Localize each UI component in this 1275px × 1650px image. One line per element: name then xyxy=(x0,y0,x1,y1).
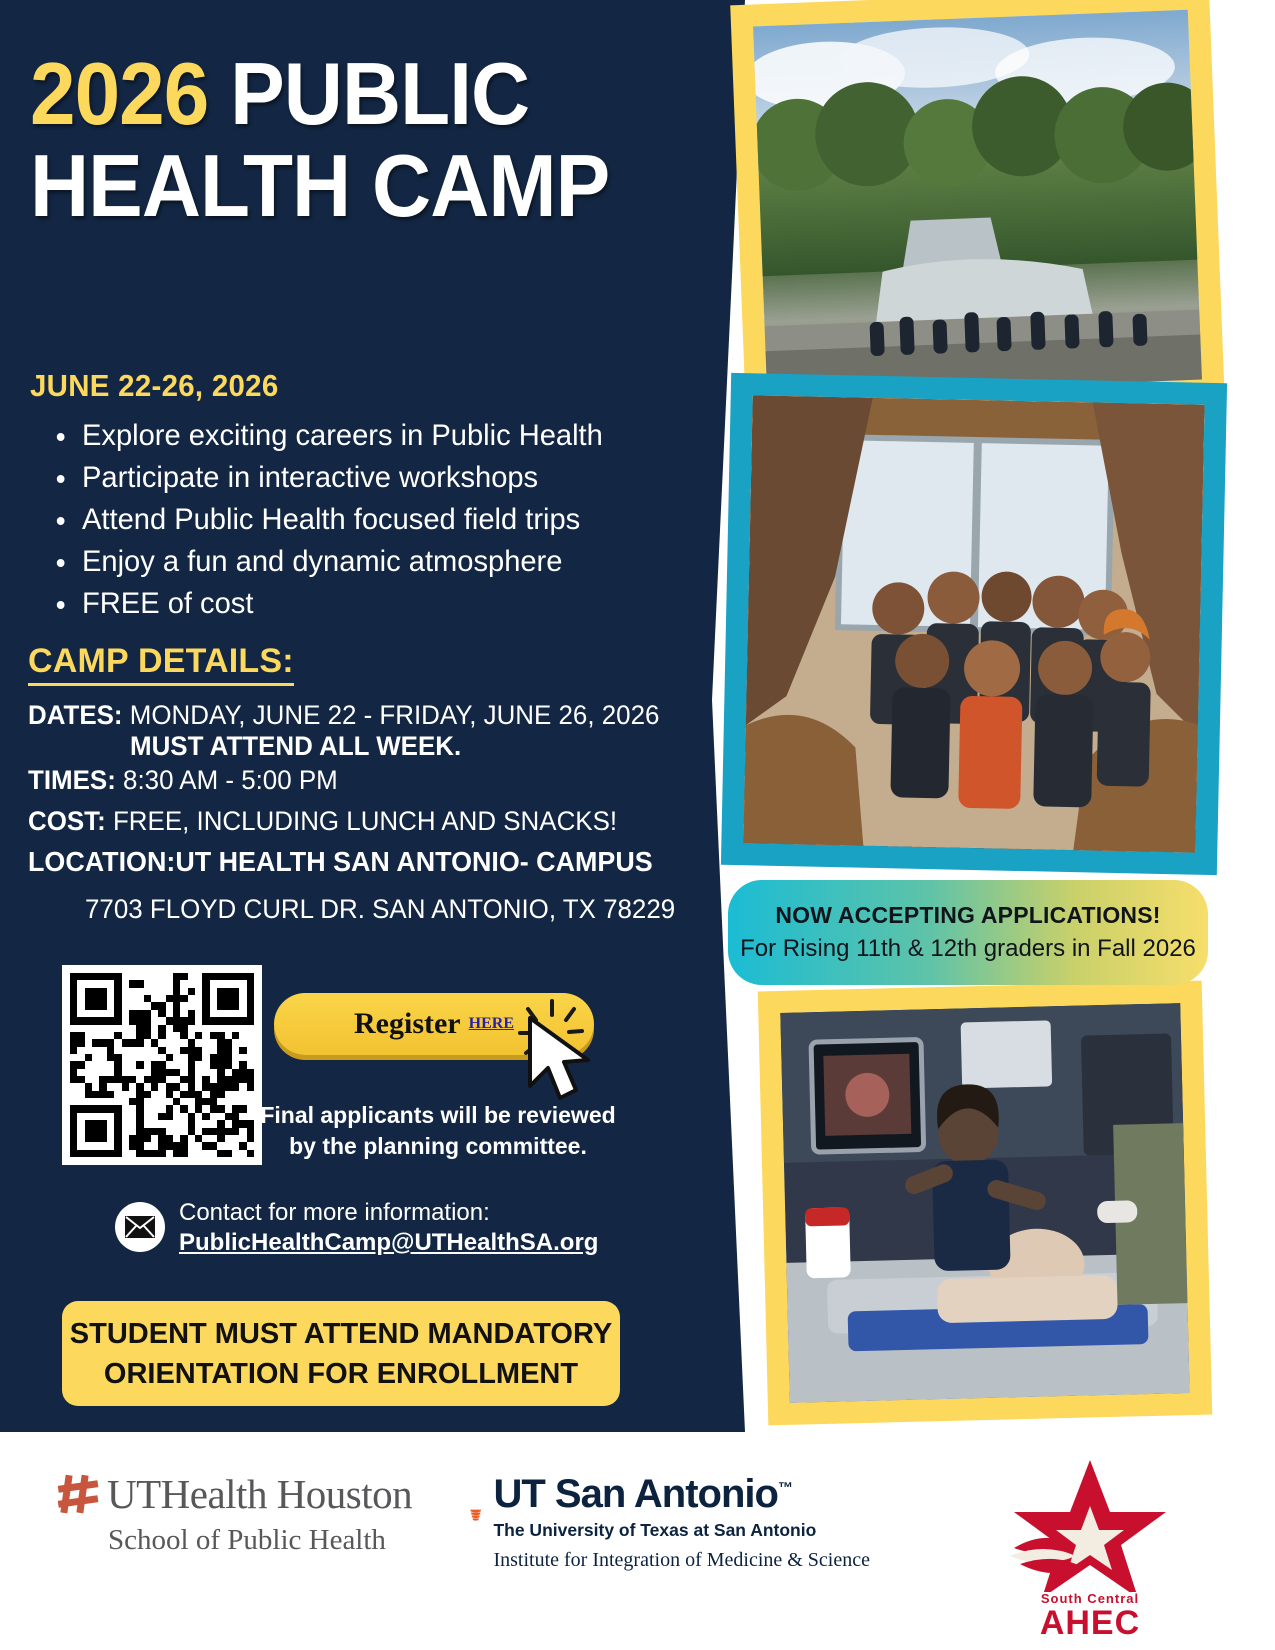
mandatory-orientation-banner: STUDENT MUST ATTEND MANDATORY ORIENTATIO… xyxy=(62,1301,620,1406)
location-label: LOCATION: xyxy=(28,846,175,877)
uthealth-name: UTHealth Houston xyxy=(107,1470,412,1518)
utsa-subtitle: The University of Texas at San Antonio xyxy=(493,1520,870,1541)
contact-block: Contact for more information: PublicHeal… xyxy=(115,1198,598,1258)
qr-code[interactable] xyxy=(62,965,262,1165)
cost-value: FREE, INCLUDING LUNCH AND SNACKS! xyxy=(113,806,617,836)
camp-dates-heading: JUNE 22-26, 2026 xyxy=(30,368,279,404)
detail-row-times: TIMES: 8:30 AM - 5:00 PM xyxy=(28,765,338,796)
camp-details-heading: CAMP DETAILS: xyxy=(28,642,294,686)
detail-row-address: 7703 FLOYD CURL DR. SAN ANTONIO, TX 7822… xyxy=(85,894,675,925)
photo-simulation-lab xyxy=(780,1003,1189,1403)
email-icon xyxy=(115,1202,165,1252)
list-item: Explore exciting careers in Public Healt… xyxy=(82,415,603,457)
uthealth-hash-icon xyxy=(55,1471,101,1517)
detail-row-dates: DATES: MONDAY, JUNE 22 - FRIDAY, JUNE 26… xyxy=(28,700,659,731)
title-line-2: HEALTH CAMP xyxy=(30,140,681,232)
accepting-subline: For Rising 11th & 12th graders in Fall 2… xyxy=(740,935,1196,963)
logo-uthealth-houston: UTHealth Houston School of Public Health xyxy=(55,1470,435,1557)
utsa-mark-icon xyxy=(470,1472,481,1558)
camp-highlights-list: Explore exciting careers in Public Healt… xyxy=(40,415,619,625)
utsa-institute: Institute for Integration of Medicine & … xyxy=(493,1549,870,1572)
title-rest: PUBLIC xyxy=(208,44,529,143)
logo-south-central-ahec: South Central AHEC xyxy=(975,1452,1205,1640)
utsa-name: UT San Antonio™ xyxy=(493,1472,870,1517)
footer-logos: UTHealth Houston School of Public Health… xyxy=(0,1432,1275,1650)
now-accepting-applications-banner: NOW ACCEPTING APPLICATIONS! For Rising 1… xyxy=(728,880,1208,985)
times-value: 8:30 AM - 5:00 PM xyxy=(123,765,338,795)
mandatory-line2: ORIENTATION FOR ENROLLMENT xyxy=(104,1354,578,1394)
detail-row-location: LOCATION:UT HEALTH SAN ANTONIO- CAMPUS xyxy=(28,846,653,878)
qr-code-pattern xyxy=(70,973,254,1157)
register-button-label: Register xyxy=(354,1007,461,1041)
photo-creek-field-trip xyxy=(753,10,1202,396)
accepting-headline: NOW ACCEPTING APPLICATIONS! xyxy=(775,902,1160,929)
list-item: Enjoy a fun and dynamic atmosphere xyxy=(82,541,603,583)
photo-student-group xyxy=(743,395,1204,852)
contact-label: Contact for more information: xyxy=(179,1198,598,1228)
times-label: TIMES: xyxy=(28,765,116,795)
register-here-link[interactable]: HERE xyxy=(469,1015,514,1033)
mandatory-line1: STUDENT MUST ATTEND MANDATORY xyxy=(70,1314,612,1354)
page-title: 2026 PUBLIC HEALTH CAMP xyxy=(30,48,681,231)
utsa-name-text: UT San Antonio xyxy=(493,1472,777,1516)
location-value: UT HEALTH SAN ANTONIO- CAMPUS xyxy=(175,846,652,877)
ahec-star-icon xyxy=(1000,1452,1180,1592)
uthealth-subtitle: School of Public Health xyxy=(77,1524,417,1557)
cost-label: COST: xyxy=(28,806,106,836)
contact-email-link[interactable]: PublicHealthCamp@UTHealthSA.org xyxy=(179,1228,598,1258)
logo-ut-san-antonio: UT San Antonio™ The University of Texas … xyxy=(470,1472,870,1572)
dates-label: DATES: xyxy=(28,700,123,730)
review-note-line2: by the planning committee. xyxy=(289,1133,587,1159)
detail-row-must-attend: MUST ATTEND ALL WEEK. xyxy=(130,731,461,762)
list-item: Attend Public Health focused field trips xyxy=(82,499,603,541)
detail-row-cost: COST: FREE, INCLUDING LUNCH AND SNACKS! xyxy=(28,806,617,837)
list-item: FREE of cost xyxy=(82,583,603,625)
dates-value: MONDAY, JUNE 22 - FRIDAY, JUNE 26, 2026 xyxy=(130,700,660,730)
ahec-name: AHEC xyxy=(975,1606,1205,1640)
mouse-cursor-icon xyxy=(520,1010,606,1110)
title-year: 2026 xyxy=(30,44,208,143)
list-item: Participate in interactive workshops xyxy=(82,457,603,499)
